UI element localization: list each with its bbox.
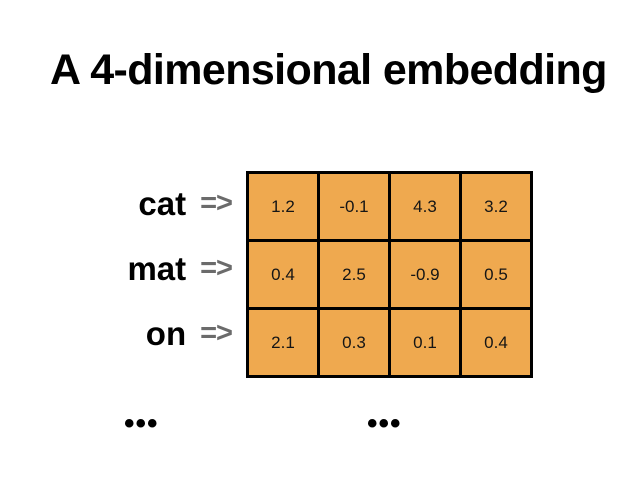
matrix-continuation-ellipsis: •••	[367, 409, 402, 439]
matrix-cell: 2.5	[319, 241, 390, 309]
table-row: 2.1 0.3 0.1 0.4	[248, 309, 532, 377]
word-label-row-mat: mat =>	[20, 236, 232, 301]
matrix-cell: 2.1	[248, 309, 319, 377]
matrix-cell: 3.2	[461, 173, 532, 241]
maps-to-arrow-icon: =>	[200, 189, 232, 218]
slide-canvas: A 4-dimensional embedding cat => mat => …	[0, 0, 638, 484]
maps-to-arrow-icon: =>	[200, 254, 232, 283]
table-row: 1.2 -0.1 4.3 3.2	[248, 173, 532, 241]
word-label-row-on: on =>	[20, 301, 232, 366]
word-label-column: cat => mat => on =>	[20, 171, 232, 366]
matrix-cell: 1.2	[248, 173, 319, 241]
word-label-on: on	[146, 317, 186, 350]
matrix-cell: 0.5	[461, 241, 532, 309]
matrix-cell: 0.1	[390, 309, 461, 377]
page-title: A 4-dimensional embedding	[50, 46, 610, 94]
matrix-cell: 0.4	[248, 241, 319, 309]
matrix-cell: -0.1	[319, 173, 390, 241]
matrix-cell: 0.4	[461, 309, 532, 377]
word-label-row-cat: cat =>	[20, 171, 232, 236]
table-row: 0.4 2.5 -0.9 0.5	[248, 241, 532, 309]
word-label-cat: cat	[138, 187, 186, 220]
matrix-cell: 4.3	[390, 173, 461, 241]
words-continuation-ellipsis: •••	[124, 409, 159, 439]
matrix-cell: -0.9	[390, 241, 461, 309]
maps-to-arrow-icon: =>	[200, 319, 232, 348]
embedding-matrix: 1.2 -0.1 4.3 3.2 0.4 2.5 -0.9 0.5 2.1 0.…	[246, 171, 533, 378]
word-label-mat: mat	[127, 252, 186, 285]
matrix-cell: 0.3	[319, 309, 390, 377]
